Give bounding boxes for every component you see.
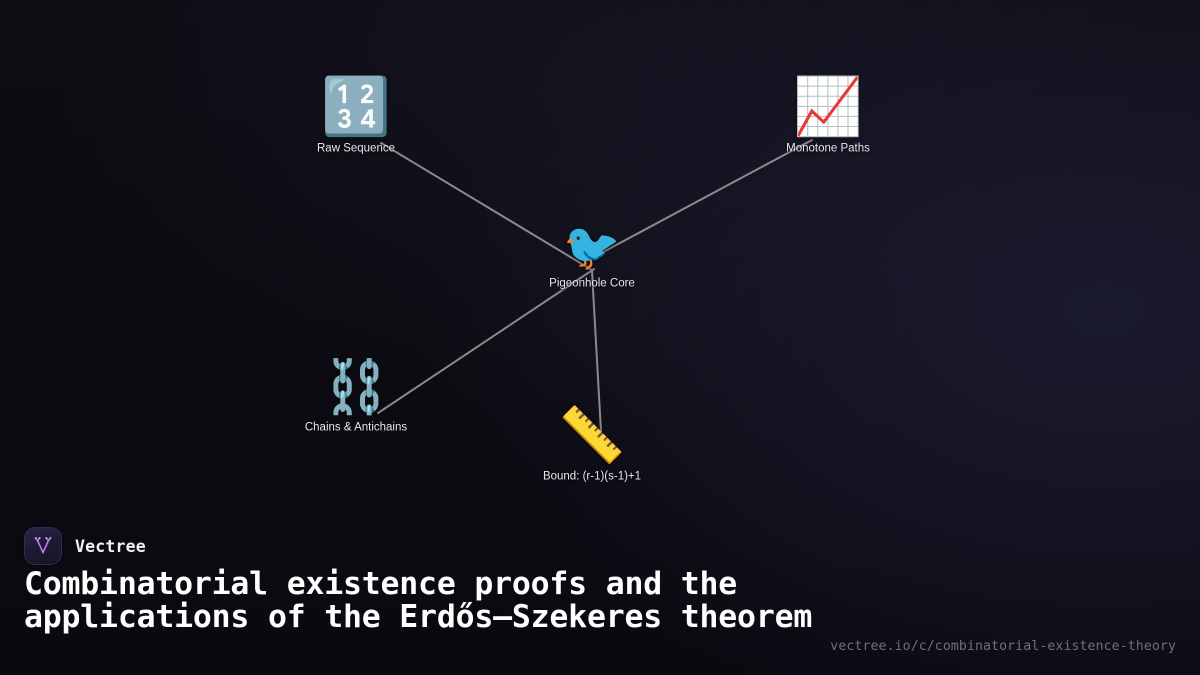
graph-node-raw-sequence[interactable]: 🔢Raw Sequence bbox=[271, 79, 441, 156]
graph-node-chains-antichains[interactable]: ⛓️Chains & Antichains bbox=[271, 362, 441, 435]
graph-node-monotone-paths[interactable]: 📈Monotone Paths bbox=[743, 79, 913, 156]
graph-node-label: Bound: (r-1)(s-1)+1 bbox=[543, 470, 641, 484]
chains-icon: ⛓️ bbox=[324, 362, 389, 414]
site-url: vectree.io/c/combinatorial-existence-the… bbox=[830, 639, 1176, 654]
straight-ruler-icon: 📏 bbox=[558, 409, 625, 463]
social-card-canvas: 🔢Raw Sequence📈Monotone Paths🐦Pigeonhole … bbox=[0, 0, 1200, 675]
chart-increasing-icon: 📈 bbox=[793, 79, 863, 135]
brand-row: Vectree bbox=[24, 527, 146, 565]
bird-icon: 🐦 bbox=[563, 224, 620, 270]
graph-node-label: Chains & Antichains bbox=[305, 421, 407, 435]
page-title: Combinatorial existence proofs and the a… bbox=[24, 568, 814, 633]
graph-node-label: Monotone Paths bbox=[786, 142, 870, 156]
brand-name: Vectree bbox=[75, 537, 146, 556]
graph-node-label: Pigeonhole Core bbox=[549, 277, 635, 291]
graph-node-label: Raw Sequence bbox=[317, 142, 395, 156]
card-footer: Vectree Combinatorial existence proofs a… bbox=[0, 515, 1200, 675]
vectree-v-logo-icon bbox=[24, 527, 62, 565]
graph-node-bound-formula[interactable]: 📏Bound: (r-1)(s-1)+1 bbox=[507, 409, 677, 484]
graph-node-pigeonhole-core[interactable]: 🐦Pigeonhole Core bbox=[507, 224, 677, 291]
input-numbers-icon: 🔢 bbox=[321, 79, 391, 135]
